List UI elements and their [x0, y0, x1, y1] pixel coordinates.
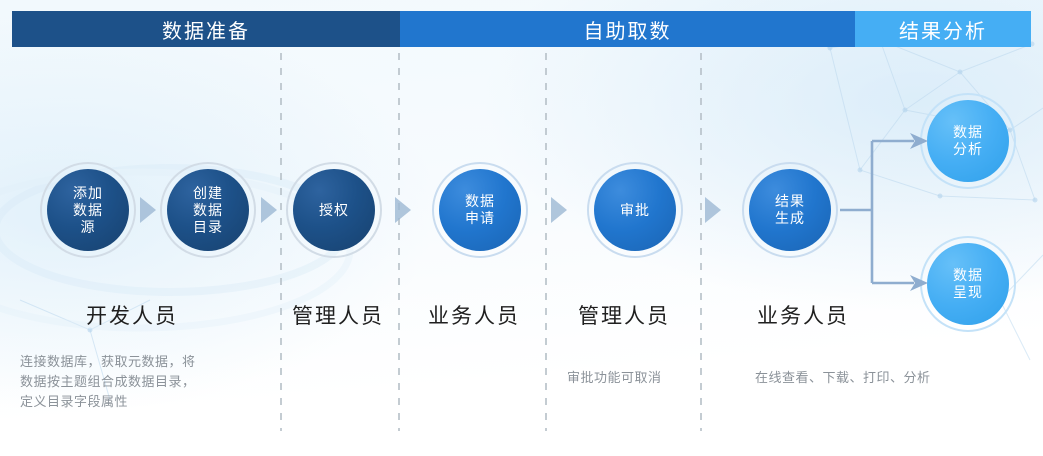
node-label: 数据 呈现 [953, 267, 983, 301]
node-label: 添加 数据 源 [73, 185, 103, 236]
note-result-analysis: 在线查看、下载、打印、分析 [755, 368, 995, 388]
arrow-icon-1 [140, 197, 156, 223]
lane-divider-2 [398, 53, 400, 431]
arrow-icon-4 [551, 197, 567, 223]
node-data-presentation[interactable]: 数据 呈现 [920, 236, 1016, 332]
node-label: 数据 分析 [953, 124, 983, 158]
phase-header-data-preparation: 数据准备 [12, 11, 400, 47]
phase-label: 自助取数 [584, 15, 672, 44]
node-add-data-source[interactable]: 添加 数据 源 [40, 162, 136, 258]
node-label: 授权 [319, 202, 349, 219]
note-approval: 审批功能可取消 [567, 368, 697, 388]
node-label: 审批 [620, 202, 650, 219]
phase-header-bar: 数据准备 自助取数 结果分析 [12, 11, 1031, 47]
phase-label: 结果分析 [899, 15, 987, 44]
node-result-generate[interactable]: 结果 生成 [742, 162, 838, 258]
lane-divider-4 [700, 53, 702, 431]
lane-divider-3 [545, 53, 547, 431]
phase-header-result-analysis: 结果分析 [855, 11, 1031, 47]
lane-divider-1 [280, 53, 282, 431]
role-label-developer: 开发人员 [86, 300, 178, 330]
node-authorize[interactable]: 授权 [286, 162, 382, 258]
arrow-icon-5 [705, 197, 721, 223]
node-label: 创建 数据 目录 [193, 185, 223, 236]
flowchart-canvas: 数据准备 自助取数 结果分析 添加 数据 源 创建 数据 目录 授权 数据 申请 [0, 0, 1043, 456]
node-label: 结果 生成 [775, 193, 805, 227]
phase-label: 数据准备 [162, 15, 250, 44]
role-label-business-1: 业务人员 [428, 300, 520, 330]
node-approval[interactable]: 审批 [587, 162, 683, 258]
role-label-manager-2: 管理人员 [578, 300, 670, 330]
phase-header-self-service-query: 自助取数 [400, 11, 855, 47]
node-label: 数据 申请 [465, 193, 495, 227]
role-label-manager-1: 管理人员 [292, 300, 384, 330]
role-label-business-2: 业务人员 [757, 300, 849, 330]
node-create-catalog[interactable]: 创建 数据 目录 [160, 162, 256, 258]
node-data-request[interactable]: 数据 申请 [432, 162, 528, 258]
node-data-analysis[interactable]: 数据 分析 [920, 93, 1016, 189]
note-data-preparation: 连接数据库，获取元数据，将 数据按主题组合成数据目录， 定义目录字段属性 [20, 352, 275, 412]
arrow-icon-3 [395, 197, 411, 223]
arrow-icon-2 [261, 197, 277, 223]
